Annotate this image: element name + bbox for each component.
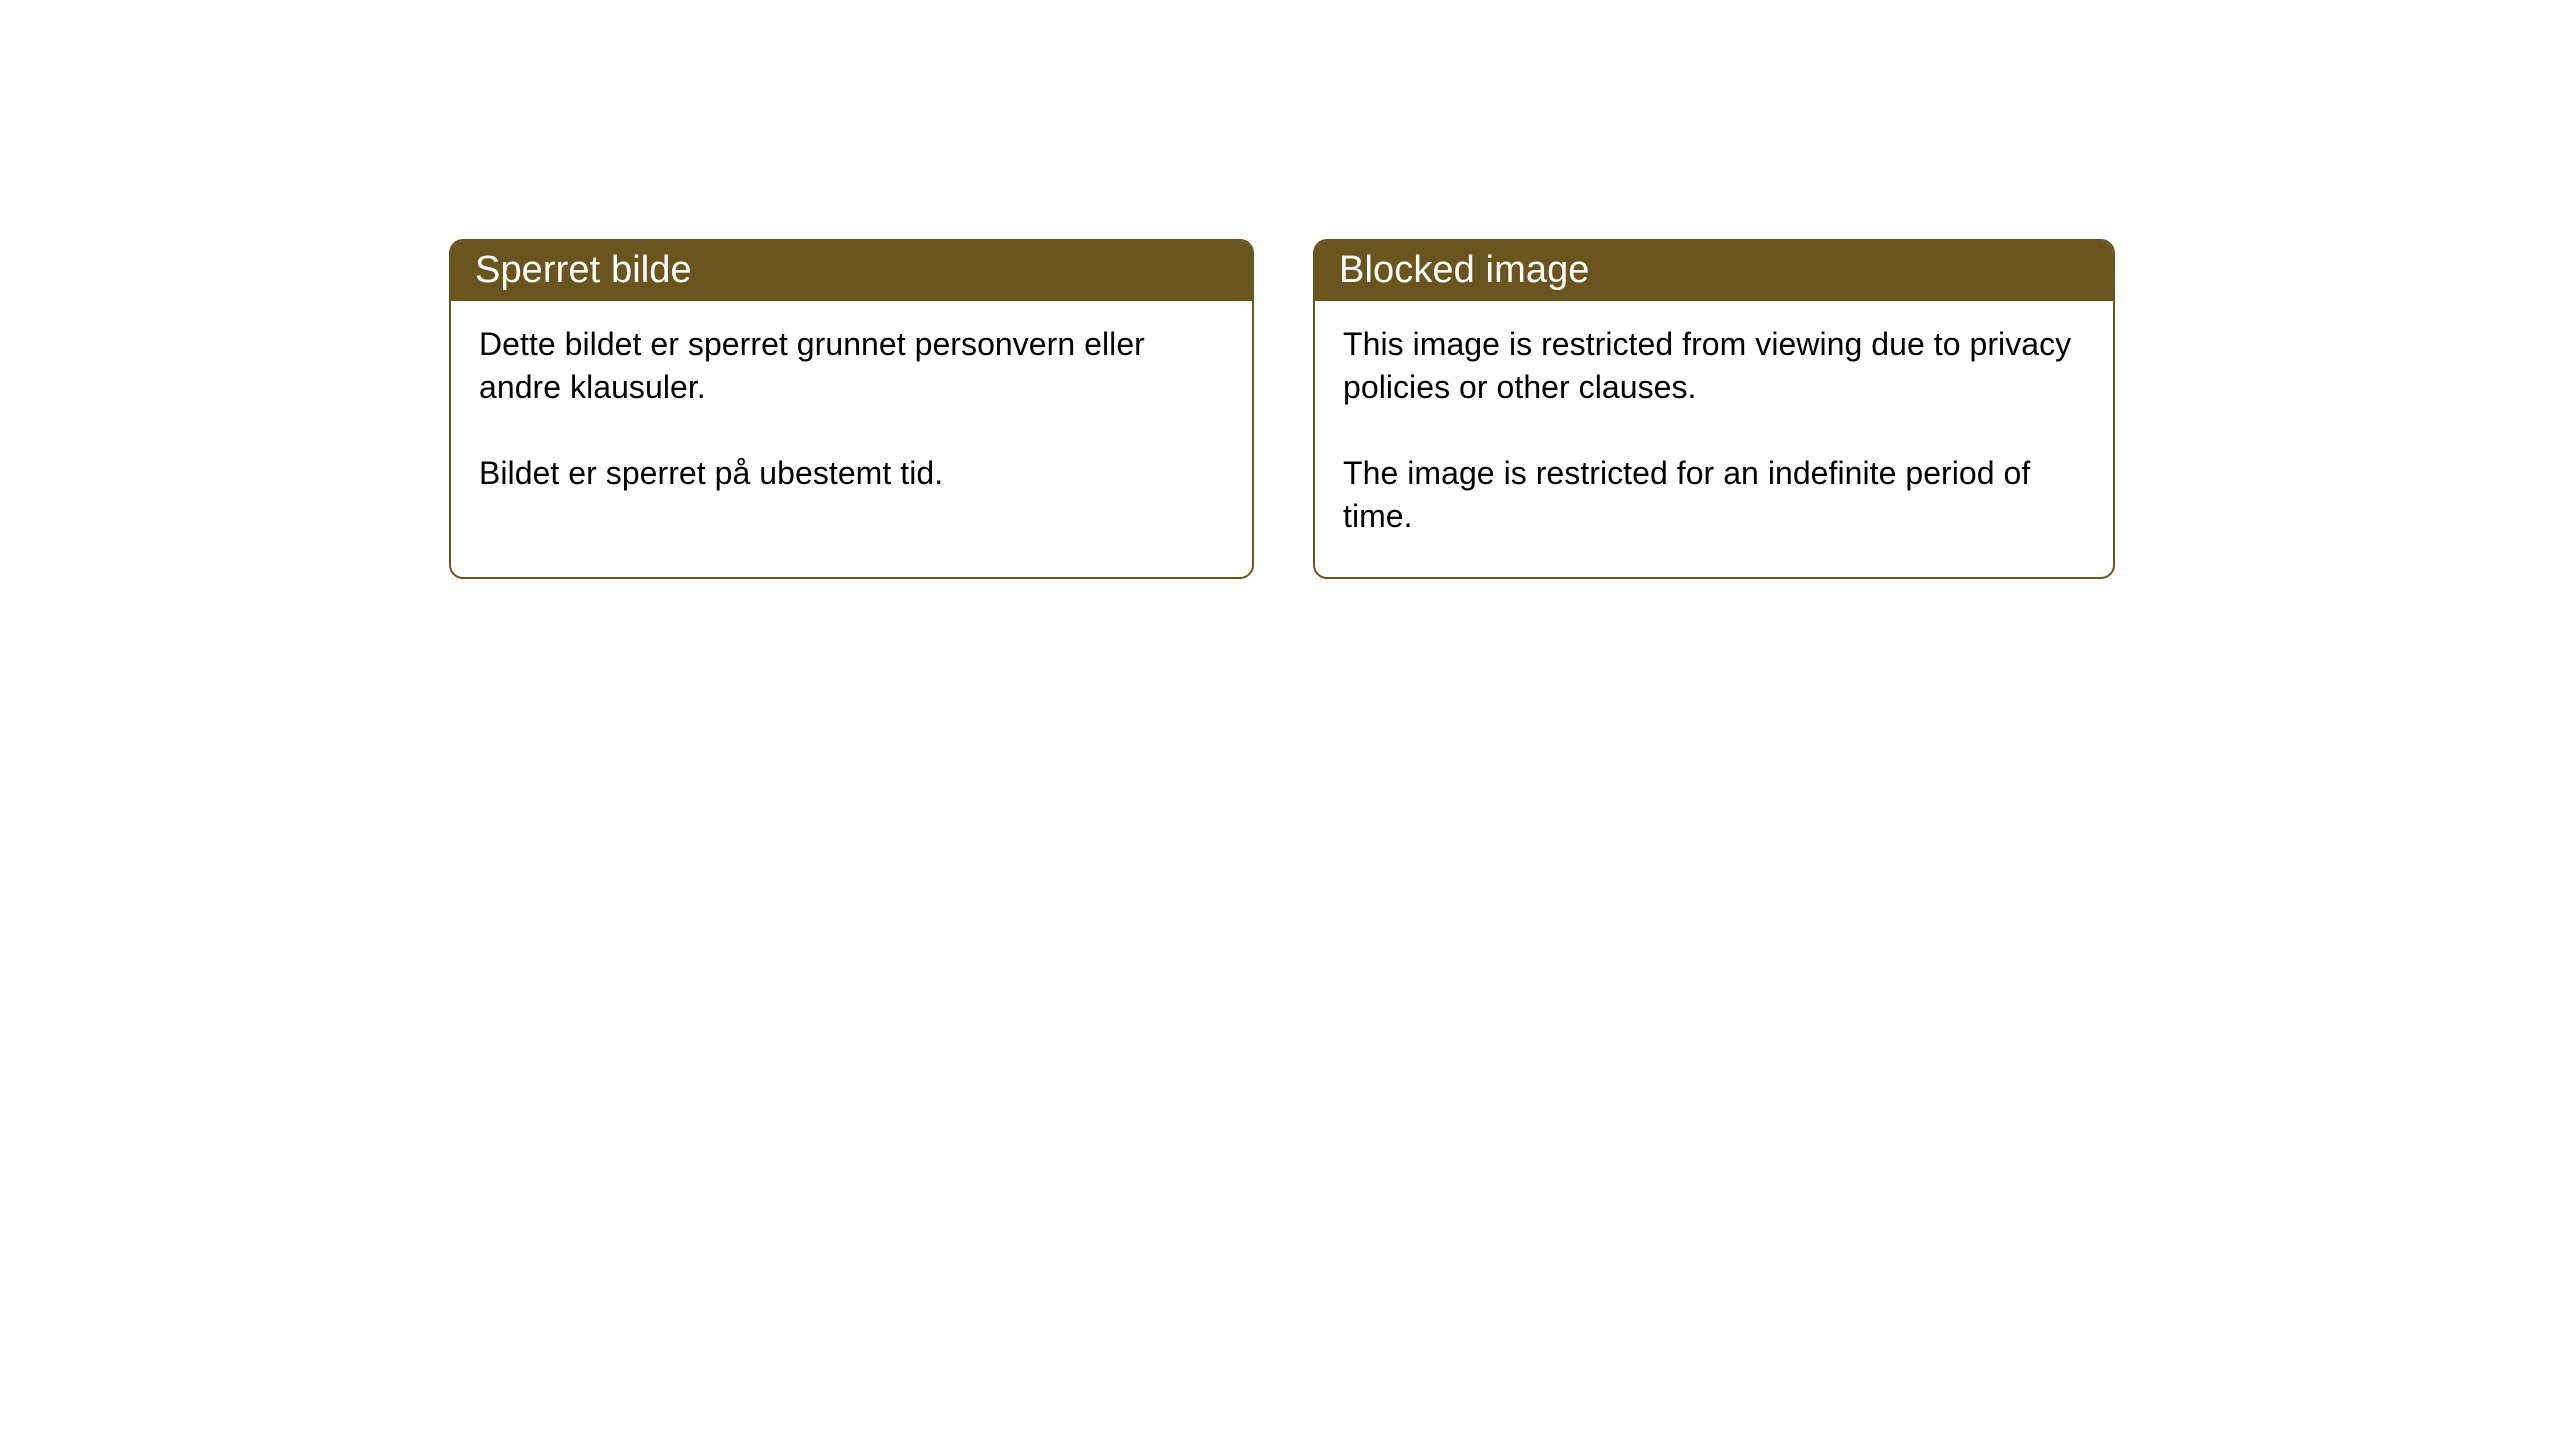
card-header-english: Blocked image — [1313, 239, 2115, 301]
card-paragraph-reason-norwegian: Dette bildet er sperret grunnet personve… — [479, 323, 1179, 409]
card-title-norwegian: Sperret bilde — [475, 251, 692, 289]
card-paragraph-duration-norwegian: Bildet er sperret på ubestemt tid. — [479, 452, 1179, 495]
card-paragraph-duration-english: The image is restricted for an indefinit… — [1343, 452, 2089, 538]
blocked-image-card-norwegian: Sperret bilde Dette bildet er sperret gr… — [449, 239, 1254, 579]
blocked-image-notice-area: Sperret bilde Dette bildet er sperret gr… — [0, 0, 2560, 1440]
card-body-norwegian: Dette bildet er sperret grunnet personve… — [451, 301, 1252, 495]
card-header-norwegian: Sperret bilde — [449, 239, 1254, 301]
card-body-english: This image is restricted from viewing du… — [1315, 301, 2113, 538]
blocked-image-card-english: Blocked image This image is restricted f… — [1313, 239, 2115, 579]
card-title-english: Blocked image — [1339, 251, 1590, 289]
card-paragraph-reason-english: This image is restricted from viewing du… — [1343, 323, 2089, 409]
